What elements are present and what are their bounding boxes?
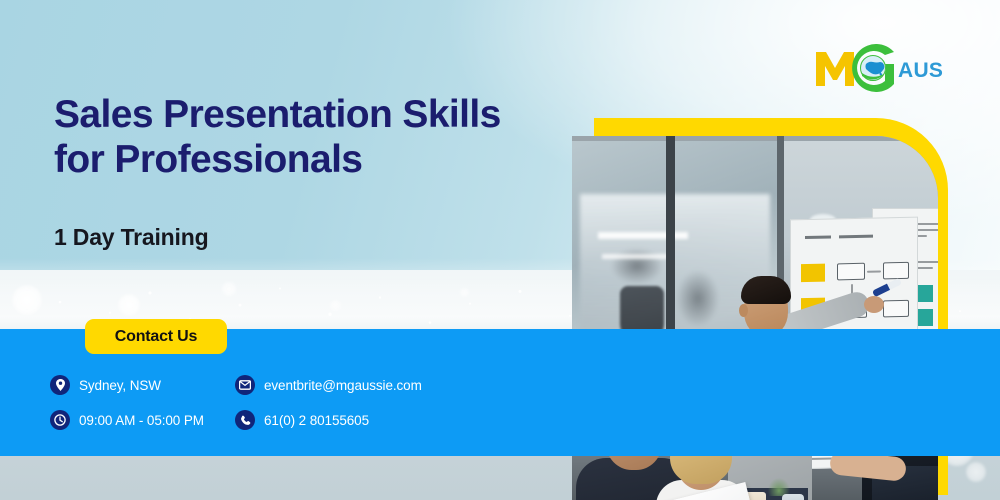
contact-item-phone[interactable]: 61(0) 2 80155605: [235, 410, 510, 430]
page-title: Sales Presentation Skills for Profession…: [54, 92, 554, 182]
envelope-icon: [235, 375, 255, 395]
contact-location-text: Sydney, NSW: [79, 378, 161, 393]
contact-us-button[interactable]: Contact Us: [85, 319, 227, 354]
hero-subtitle: 1 Day Training: [54, 224, 554, 251]
event-banner: AUSSIE Sales Presentation Skills for Pro…: [0, 0, 1000, 500]
bokeh-light: [222, 282, 236, 296]
phone-icon: [235, 410, 255, 430]
contact-phone-text: 61(0) 2 80155605: [264, 413, 369, 428]
hero-text-block: Sales Presentation Skills for Profession…: [54, 92, 554, 251]
bokeh-light: [966, 462, 986, 482]
location-pin-icon: [50, 375, 70, 395]
contact-item-location[interactable]: Sydney, NSW: [50, 375, 235, 395]
contact-details: Sydney, NSW eventbrite@mgaussie.com 09:0…: [50, 375, 510, 430]
contact-item-email[interactable]: eventbrite@mgaussie.com: [235, 375, 510, 395]
mg-aussie-logo: AUSSIE: [812, 44, 944, 92]
contact-item-hours[interactable]: 09:00 AM - 05:00 PM: [50, 410, 235, 430]
bokeh-light: [118, 294, 140, 316]
contact-email-text: eventbrite@mgaussie.com: [264, 378, 422, 393]
bokeh-light: [12, 285, 42, 315]
svg-text:AUSSIE: AUSSIE: [898, 59, 944, 82]
clock-icon: [50, 410, 70, 430]
contact-hours-text: 09:00 AM - 05:00 PM: [79, 413, 204, 428]
bokeh-light: [330, 300, 341, 311]
bokeh-light: [460, 288, 469, 297]
